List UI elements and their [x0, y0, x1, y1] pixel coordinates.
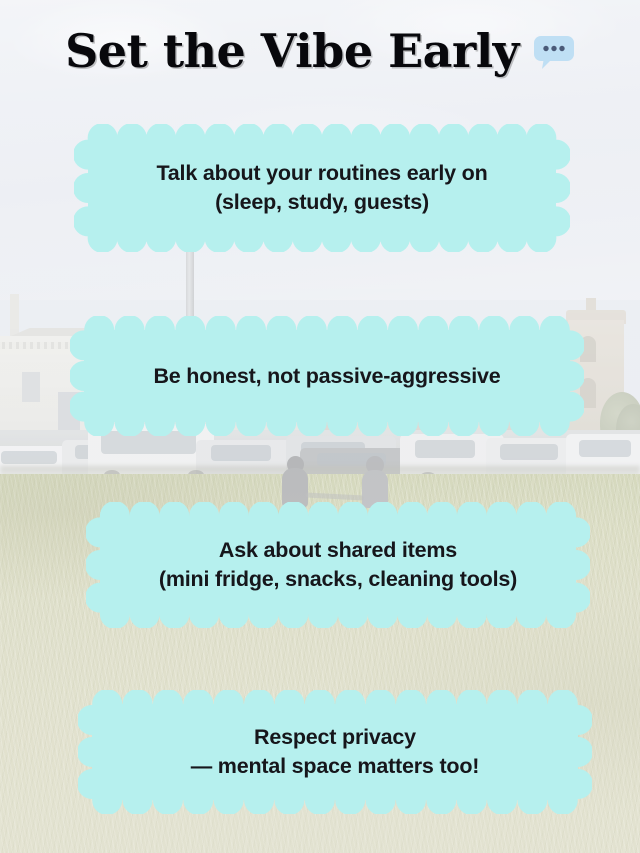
tip-card-shared-items[interactable]: Ask about shared items (mini fridge, sna…	[100, 516, 576, 614]
poster-content: Set the Vibe Early Talk about your routi…	[0, 0, 640, 853]
title-row: Set the Vibe Early	[0, 28, 640, 74]
tip-card-routines[interactable]: Talk about your routines early on (sleep…	[88, 138, 556, 238]
tip-card-honesty-text: Be honest, not passive-aggressive	[127, 362, 526, 391]
tip-card-routines-text: Talk about your routines early on (sleep…	[130, 159, 513, 216]
tip-card-privacy-text: Respect privacy — mental space matters t…	[165, 723, 506, 780]
tip-card-shared-items-text: Ask about shared items (mini fridge, sna…	[133, 536, 543, 593]
tip-card-privacy[interactable]: Respect privacy — mental space matters t…	[92, 704, 578, 800]
tip-card-honesty[interactable]: Be honest, not passive-aggressive	[84, 330, 570, 422]
poster-canvas: Set the Vibe Early Talk about your routi…	[0, 0, 640, 853]
page-title: Set the Vibe Early	[65, 28, 519, 74]
speech-balloon-icon	[533, 35, 575, 71]
